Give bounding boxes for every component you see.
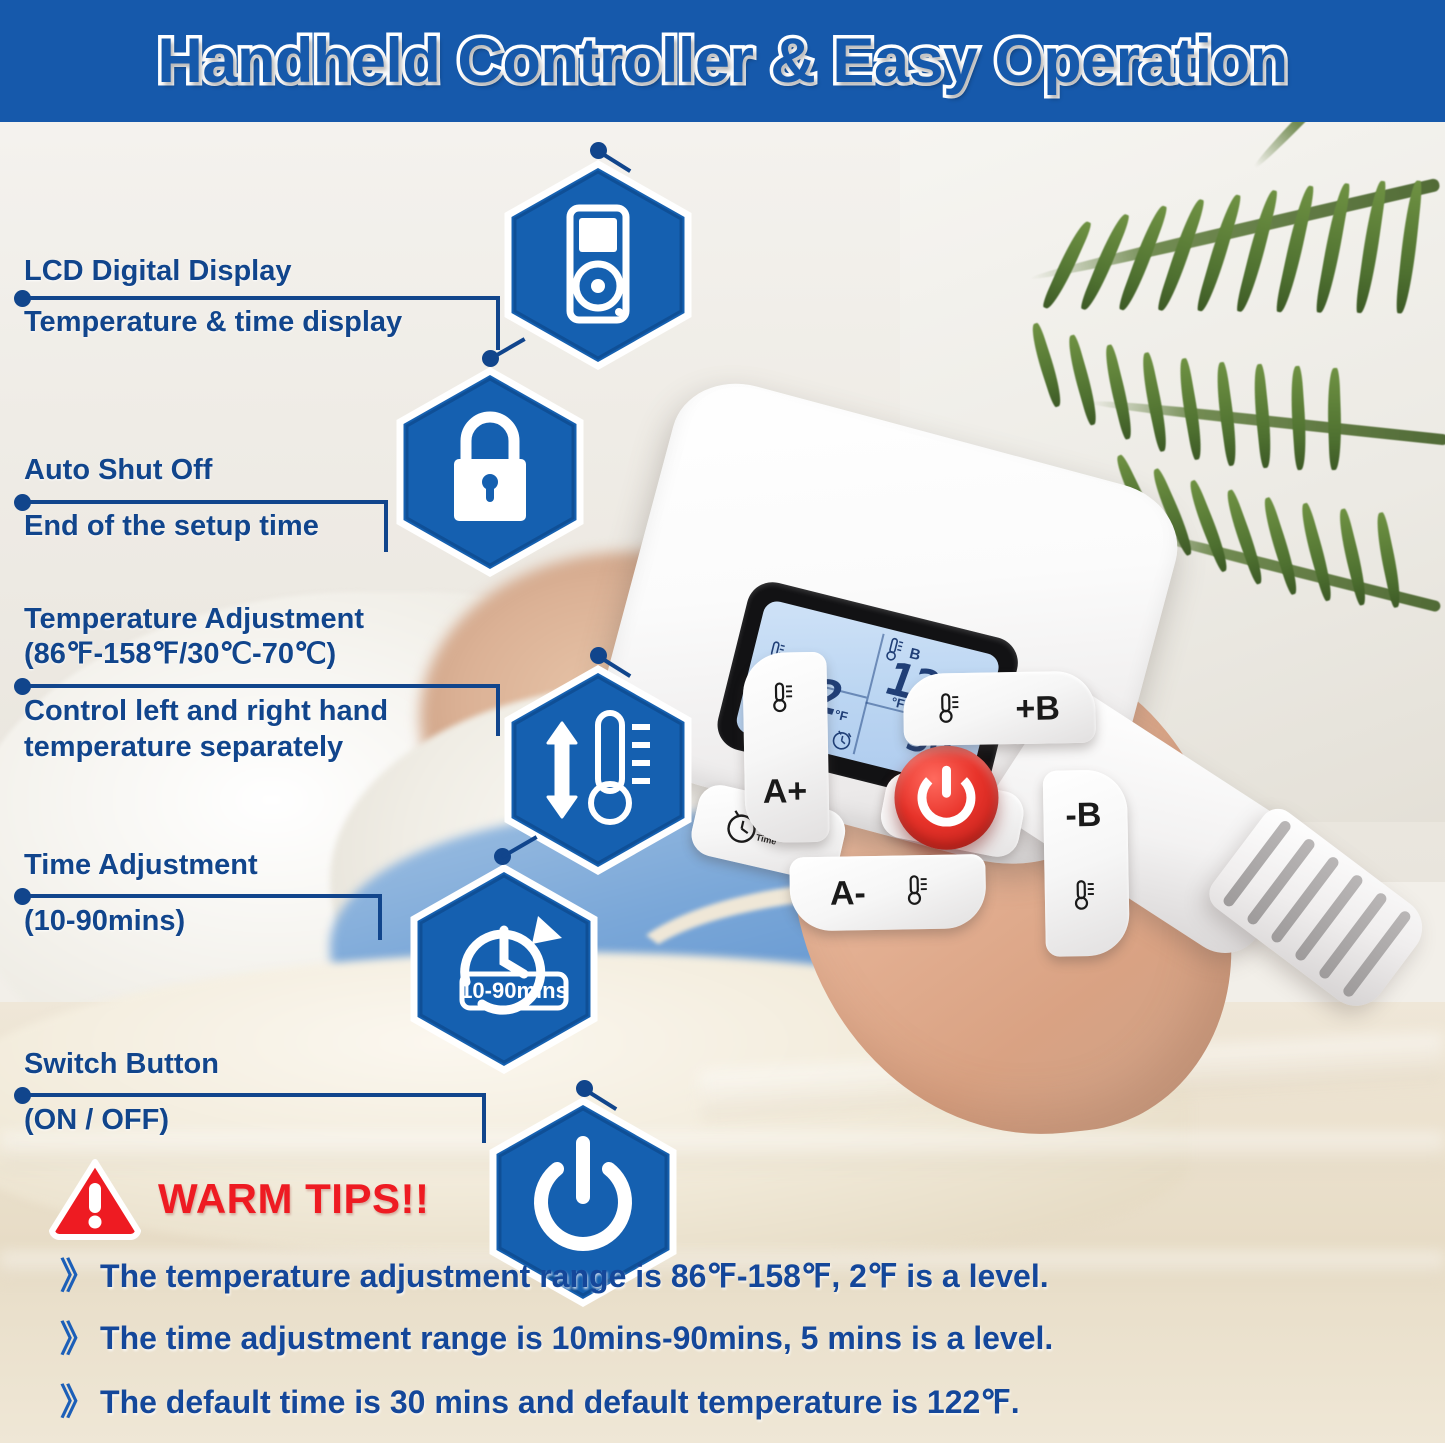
header-banner: Handheld Controller & Easy Operation [0, 0, 1445, 122]
thermometer-icon [767, 680, 802, 720]
callout-title: LCD Digital Display [24, 255, 292, 288]
handheld-controller: A 122 °F B 122 [600, 317, 1445, 1177]
page-title: Handheld Controller & Easy Operation [0, 25, 1445, 97]
a-plus-label: A+ [762, 772, 807, 812]
callout-title: Time Adjustment [24, 849, 258, 882]
callout-title: Auto Shut Off [24, 454, 212, 487]
feature-icon-lcd-display [504, 160, 692, 370]
chevron-bullet-icon: 》 [60, 1384, 96, 1420]
callout-description: (10-90mins) [24, 904, 185, 939]
warm-tips-title: WARM TIPS!! [158, 1175, 429, 1223]
warm-tip-text: The time adjustment range is 10mins-90mi… [100, 1320, 1053, 1357]
warm-tip-item: 》 The time adjustment range is 10mins-90… [60, 1320, 1053, 1357]
callout-description: End of the setup time [24, 509, 319, 544]
thermometer-icon [933, 691, 968, 731]
content-stage: A 122 °F B 122 [0, 122, 1445, 1443]
callout-title: Switch Button [24, 1048, 219, 1081]
warm-tip-text: The default time is 30 mins and default … [100, 1383, 1020, 1421]
callout-title-range: (86℉-158℉/30℃-70℃) [24, 638, 336, 670]
callout-description: (ON / OFF) [24, 1103, 169, 1138]
b-plus-button[interactable]: +B [903, 671, 1096, 746]
lcd-zone-a-unit: °F [833, 707, 849, 725]
b-minus-button[interactable]: -B [1043, 769, 1130, 956]
callout-description: Temperature & time display [24, 305, 402, 340]
warm-tip-item: 》 The default time is 30 mins and defaul… [60, 1383, 1020, 1421]
callout-description-2: temperature separately [24, 730, 343, 765]
b-plus-label: +B [1015, 689, 1060, 729]
chevron-bullet-icon: 》 [60, 1258, 96, 1294]
callout-title: Temperature Adjustment [24, 603, 364, 635]
warning-triangle-icon [48, 1157, 142, 1241]
thermometer-icon [1069, 878, 1104, 918]
a-minus-label: A- [830, 874, 867, 914]
warm-tip-item: 》 The temperature adjustment range is 86… [60, 1257, 1049, 1295]
callout-description: Control left and right hand [24, 694, 388, 729]
feature-icon-temperature-adjustment [504, 665, 692, 875]
warm-tip-text: The temperature adjustment range is 86℉-… [100, 1257, 1049, 1295]
feature-icon-time-adjustment: 10-90mins [410, 864, 598, 1074]
power-button[interactable] [894, 746, 998, 850]
feature-icon-auto-shut-off [396, 367, 584, 577]
thermometer-icon [902, 873, 937, 913]
b-minus-label: -B [1065, 796, 1102, 836]
time-range-badge: 10-90mins [460, 978, 568, 1003]
chevron-bullet-icon: 》 [60, 1321, 96, 1357]
warm-tips-heading-row: WARM TIPS!! [48, 1157, 429, 1241]
a-minus-button[interactable]: A- [789, 854, 986, 931]
a-plus-button[interactable]: A+ [742, 652, 829, 843]
